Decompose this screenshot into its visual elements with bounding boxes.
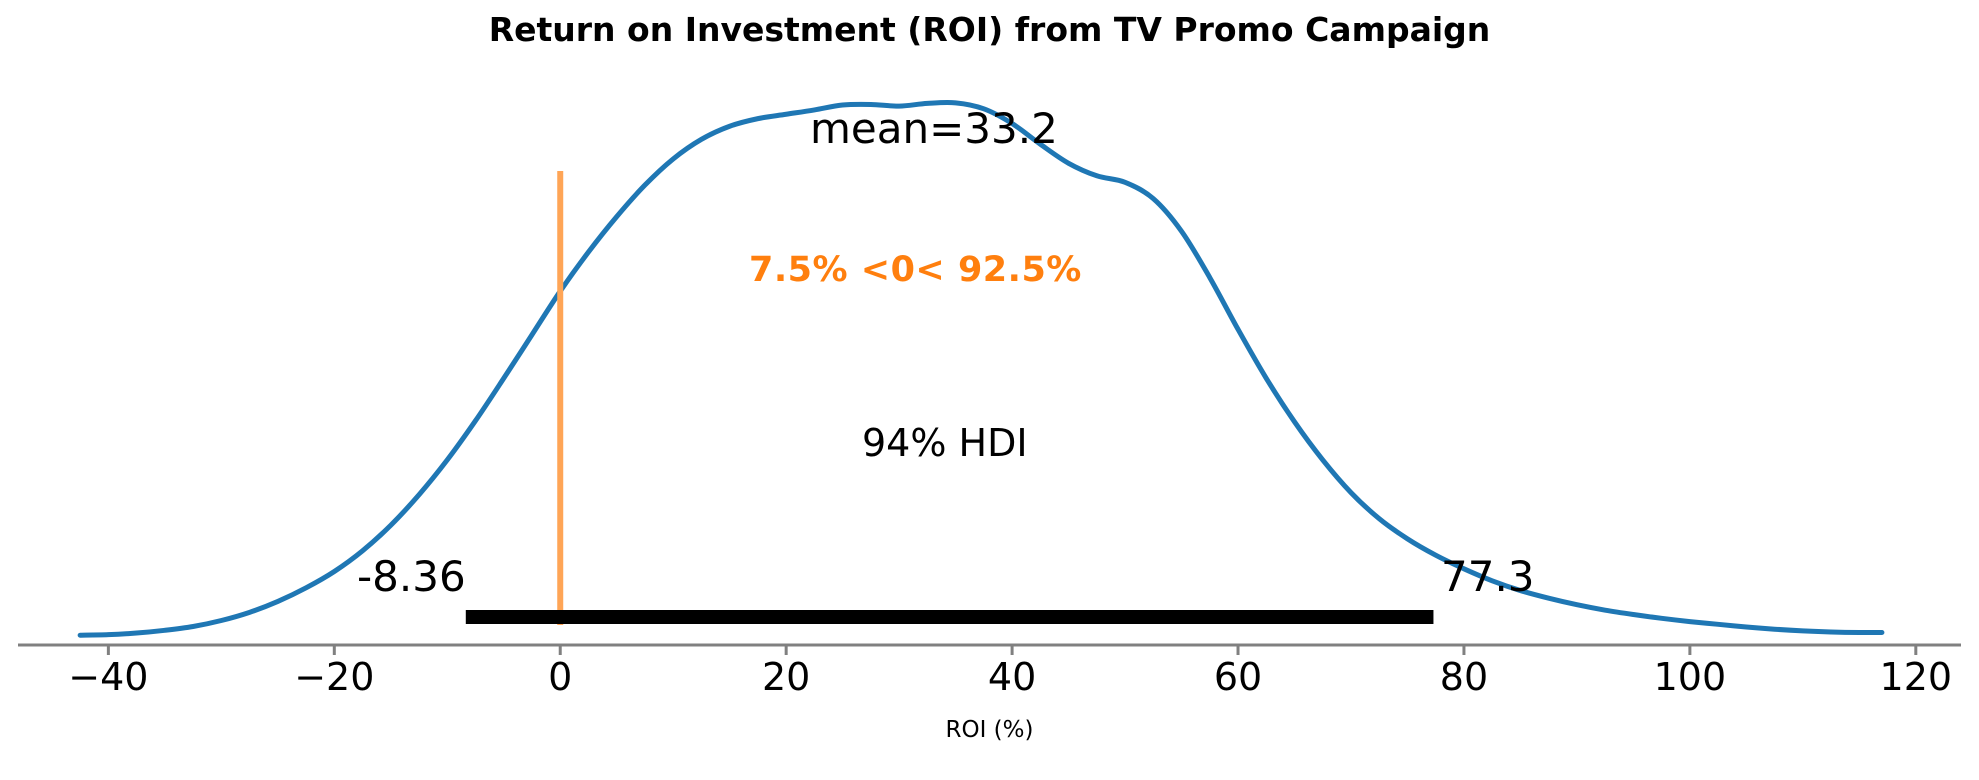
hdi-low-value-label: -8.36: [357, 556, 466, 598]
x-tick-label: −40: [68, 655, 148, 699]
x-tick-label: 60: [1214, 655, 1262, 699]
x-tick-label: 120: [1880, 655, 1953, 699]
x-tick-label: −20: [294, 655, 374, 699]
density-curve-group: [80, 102, 1882, 635]
hdi-high-value-label: 77.3: [1441, 556, 1535, 598]
x-tick-label: 0: [548, 655, 572, 699]
mean-annotation: mean=33.2: [810, 108, 1058, 150]
posterior-density-curve: [80, 102, 1882, 635]
x-tick-label: 20: [762, 655, 810, 699]
x-tick-label: 40: [988, 655, 1036, 699]
x-tick-label: 80: [1440, 655, 1488, 699]
figure-canvas: Return on Investment (ROI) from TV Promo…: [0, 0, 1979, 780]
rope-annotation: 7.5% <0< 92.5%: [749, 253, 1082, 288]
x-axis-label: ROI (%): [0, 717, 1979, 743]
hdi-annotation: 94% HDI: [862, 424, 1028, 462]
x-tick-label: 100: [1654, 655, 1727, 699]
